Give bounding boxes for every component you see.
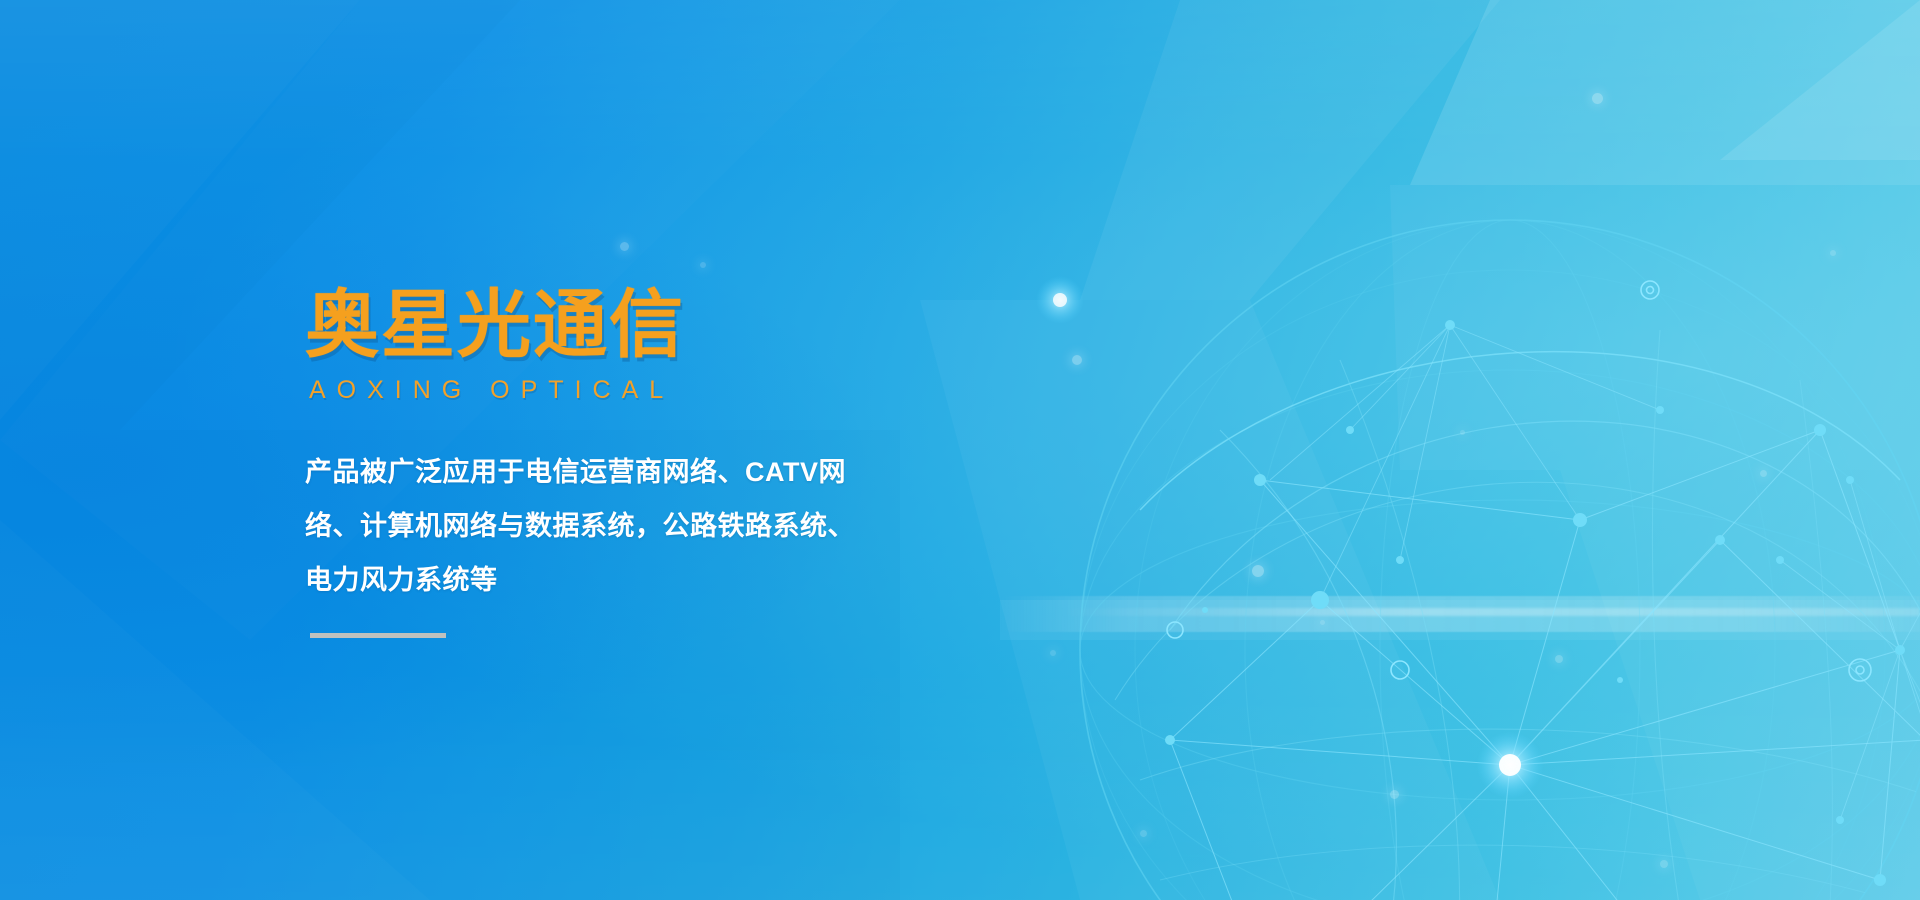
brand-title-cn: 奥星光通信 — [305, 286, 985, 364]
accent-underline — [310, 633, 446, 638]
description-line-1: 产品被广泛应用于电信运营商网络、CATV网 — [305, 445, 935, 499]
banner-description: 产品被广泛应用于电信运营商网络、CATV网 络、计算机网络与数据系统，公路铁路系… — [305, 445, 935, 607]
brand-title-en: AOXING OPTICAL — [309, 376, 985, 405]
hero-banner: 奥星光通信 AOXING OPTICAL 产品被广泛应用于电信运营商网络、CAT… — [0, 0, 1920, 900]
description-line-2: 络、计算机网络与数据系统，公路铁路系统、 — [305, 499, 935, 553]
banner-content: 奥星光通信 AOXING OPTICAL 产品被广泛应用于电信运营商网络、CAT… — [305, 286, 985, 638]
description-line-3: 电力风力系统等 — [305, 553, 935, 607]
